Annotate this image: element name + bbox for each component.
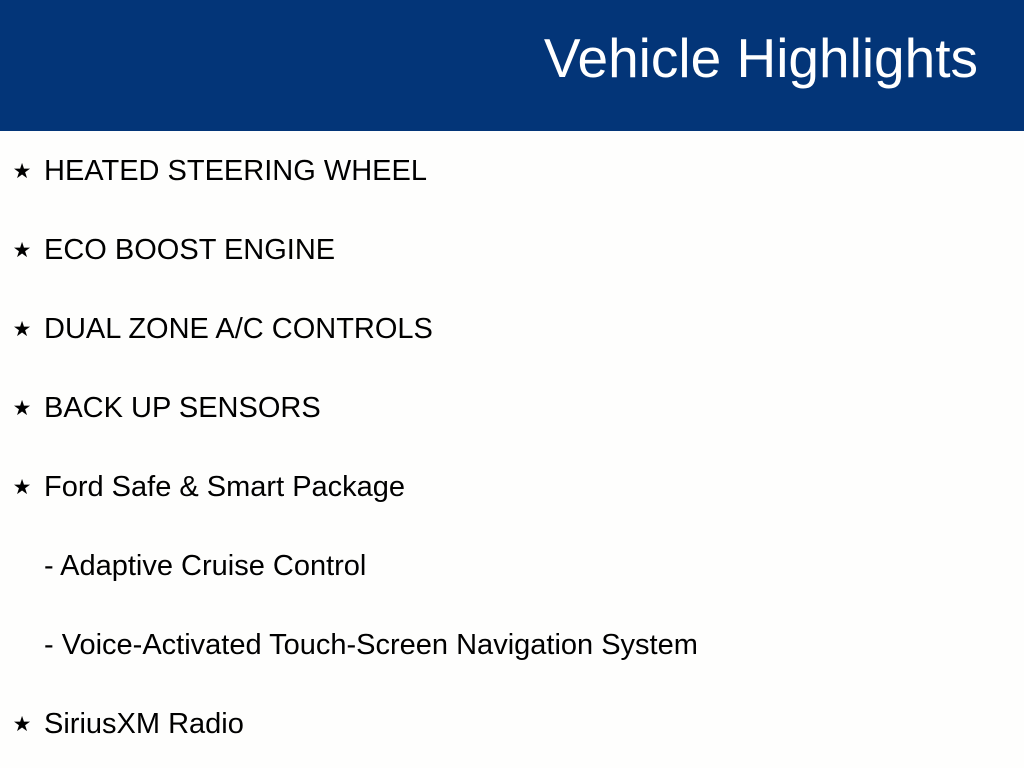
- list-item: ★BACK UP SENSORS: [0, 390, 1024, 426]
- list-item-label: SiriusXM Radio: [44, 706, 244, 742]
- list-item: ★DUAL ZONE A/C CONTROLS: [0, 311, 1024, 347]
- list-item-label: ECO BOOST ENGINE: [44, 232, 335, 268]
- list-sub-item: - Adaptive Cruise Control: [0, 548, 1024, 584]
- highlights-list: ★HEATED STEERING WHEEL★ECO BOOST ENGINE★…: [0, 131, 1024, 768]
- star-icon: ★: [11, 390, 33, 426]
- list-item: ★ECO BOOST ENGINE: [0, 232, 1024, 268]
- page-title: Vehicle Highlights: [544, 24, 978, 92]
- star-icon: ★: [11, 232, 33, 268]
- list-item-label: BACK UP SENSORS: [44, 390, 321, 426]
- list-sub-item-label: - Voice-Activated Touch-Screen Navigatio…: [44, 627, 698, 663]
- list-item: ★Ford Safe & Smart Package: [0, 469, 1024, 505]
- title-band: Vehicle Highlights: [0, 0, 1024, 131]
- list-item-label: Ford Safe & Smart Package: [44, 469, 405, 505]
- slide-vehicle-highlights: Vehicle Highlights ★HEATED STEERING WHEE…: [0, 0, 1024, 768]
- list-sub-item: - Voice-Activated Touch-Screen Navigatio…: [0, 627, 1024, 663]
- list-sub-item-label: - Adaptive Cruise Control: [44, 548, 366, 584]
- list-item: ★HEATED STEERING WHEEL: [0, 153, 1024, 189]
- star-icon: ★: [11, 706, 33, 742]
- star-icon: ★: [11, 153, 33, 189]
- star-icon: ★: [11, 469, 33, 505]
- star-icon: ★: [11, 311, 33, 347]
- list-item-label: HEATED STEERING WHEEL: [44, 153, 427, 189]
- list-item: ★SiriusXM Radio: [0, 706, 1024, 742]
- list-item-label: DUAL ZONE A/C CONTROLS: [44, 311, 433, 347]
